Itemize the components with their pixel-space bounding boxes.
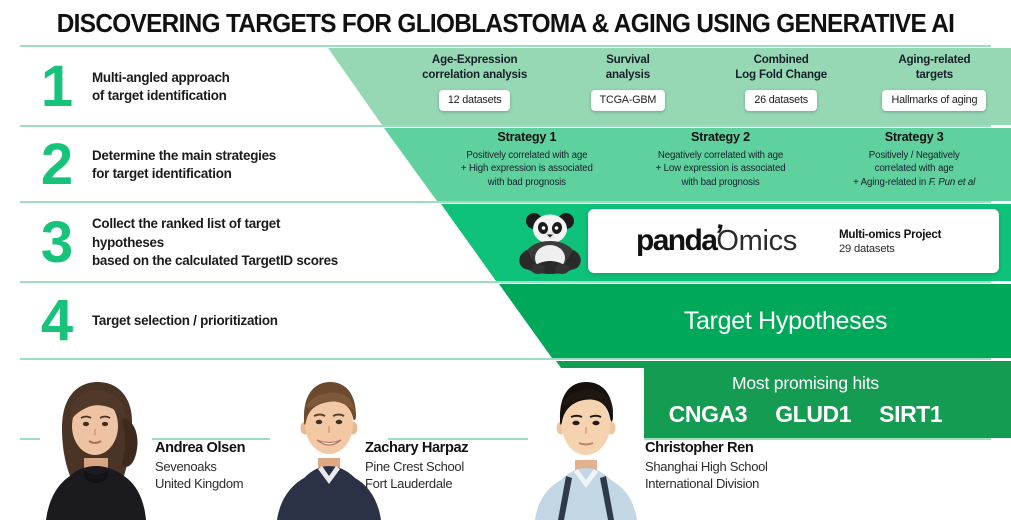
- step-row-1: 1 Multi-angled approach of target identi…: [20, 50, 350, 124]
- header-line: Aging-related: [898, 53, 970, 68]
- strategy-header: Strategy 2: [691, 130, 750, 144]
- pandaomics-row: panda ’ Omics Multi-omics Project 29 dat…: [500, 204, 1011, 281]
- hit-gene: GLUD1: [775, 401, 851, 428]
- header-line: Survival: [606, 53, 650, 68]
- panda-icon: [514, 210, 586, 276]
- hit-gene: CNGA3: [669, 401, 748, 428]
- strategy-body: Positively / Negatively correlated with …: [853, 149, 975, 189]
- strategy-body: Negatively correlated with age + Low exp…: [656, 149, 786, 189]
- step-number: 4: [20, 295, 92, 347]
- step-row-3: 3 Collect the ranked list of target hypo…: [20, 206, 350, 280]
- divider: [20, 358, 991, 360]
- strategy-header: Strategy 3: [885, 130, 944, 144]
- divider: [20, 125, 991, 127]
- strategy-line-text: + Aging-related in: [853, 177, 929, 188]
- strategy-line: correlated with age: [853, 162, 975, 175]
- hits-header: Most promising hits: [732, 373, 879, 394]
- dataset-chip[interactable]: 12 datasets: [439, 90, 511, 111]
- step-description: Collect the ranked list of target hypoth…: [92, 215, 350, 271]
- strategy-line: with bad prognosis: [461, 176, 593, 189]
- person-affiliation-line: International Division: [645, 475, 768, 492]
- strategy-column-2: Strategy 2 Negatively correlated with ag…: [624, 130, 818, 200]
- header-line: Combined: [735, 53, 827, 68]
- people-captions: Andrea Olsen Sevenoaks United Kingdom Za…: [0, 440, 1011, 520]
- person-caption-2: Zachary Harpaz Pine Crest School Fort La…: [365, 440, 468, 492]
- divider: [20, 201, 991, 203]
- analysis-column-header: Age-Expression correlation analysis: [422, 53, 527, 83]
- person-caption-1: Andrea Olsen Sevenoaks United Kingdom: [155, 440, 245, 492]
- step-description: Multi-angled approach of target identifi…: [92, 69, 230, 106]
- step-row-4: 4 Target selection / prioritization: [20, 286, 350, 357]
- hit-gene: SIRT1: [879, 401, 942, 428]
- person-caption-3: Christopher Ren Shanghai High School Int…: [645, 440, 768, 492]
- strategy-line: + Aging-related in F. Pun et al: [853, 176, 975, 189]
- person-affiliation-line: Fort Lauderdale: [365, 475, 468, 492]
- project-name: Multi-omics Project: [839, 228, 989, 241]
- person-affiliation-line: United Kingdom: [155, 475, 245, 492]
- step-description: Determine the main strategies for target…: [92, 147, 276, 184]
- header-line: Age-Expression: [422, 53, 527, 68]
- strategy-columns: Strategy 1 Positively correlated with ag…: [430, 130, 1011, 200]
- person-name: Zachary Harpaz: [365, 440, 468, 456]
- step-text-line: Target selection / prioritization: [92, 312, 278, 331]
- step-text-line: Multi-angled approach: [92, 69, 230, 88]
- strategy-column-3: Strategy 3 Positively / Negatively corre…: [817, 130, 1011, 200]
- step-text-line: of target identification: [92, 87, 230, 106]
- analysis-column-header: Survival analysis: [606, 53, 650, 83]
- page-title: DISCOVERING TARGETS FOR GLIOBLASTOMA & A…: [23, 4, 989, 44]
- person-affiliation-line: Pine Crest School: [365, 458, 468, 475]
- analysis-column-header: Combined Log Fold Change: [735, 53, 827, 83]
- project-datasets: 29 datasets: [839, 243, 989, 255]
- analysis-column-header: Aging-related targets: [898, 53, 970, 83]
- step-number: 3: [20, 217, 92, 269]
- header-line: analysis: [606, 68, 650, 83]
- strategy-line: + Low expression is associated: [656, 162, 786, 175]
- step-description: Target selection / prioritization: [92, 312, 278, 331]
- step-number: 1: [20, 61, 92, 113]
- step-text-line: for target identification: [92, 165, 276, 184]
- step-number: 2: [20, 139, 92, 191]
- pandaomics-card[interactable]: panda ’ Omics Multi-omics Project 29 dat…: [588, 209, 999, 273]
- step-row-2: 2 Determine the main strategies for targ…: [20, 130, 350, 200]
- header-line: targets: [898, 68, 970, 83]
- poster-canvas: DISCOVERING TARGETS FOR GLIOBLASTOMA & A…: [0, 0, 1011, 520]
- strategy-line: Positively / Negatively: [853, 149, 975, 162]
- pandaomics-logo: panda ’ Omics: [588, 226, 839, 256]
- step-text-line: based on the calculated TargetID scores: [92, 252, 350, 271]
- analysis-column-aging-related: Aging-related targets Hallmarks of aging: [858, 52, 1011, 124]
- analysis-column-age-expression: Age-Expression correlation analysis 12 d…: [398, 52, 551, 124]
- person-affiliation-line: Sevenoaks: [155, 458, 245, 475]
- project-info: Multi-omics Project 29 datasets: [839, 228, 999, 255]
- step-text-line: Determine the main strategies: [92, 147, 276, 166]
- analysis-column-survival: Survival analysis TCGA-GBM: [551, 52, 704, 124]
- person-affiliation-line: Shanghai High School: [645, 458, 768, 475]
- most-promising-hits: Most promising hits CNGA3 GLUD1 SIRT1: [600, 364, 1011, 436]
- analysis-column-log-fold-change: Combined Log Fold Change 26 datasets: [705, 52, 858, 124]
- divider: [20, 281, 991, 283]
- header-line: Log Fold Change: [735, 68, 827, 83]
- divider: [20, 45, 991, 47]
- dataset-chip[interactable]: 26 datasets: [745, 90, 817, 111]
- analysis-columns: Age-Expression correlation analysis 12 d…: [398, 52, 1011, 124]
- header-line: correlation analysis: [422, 68, 527, 83]
- strategy-line: with bad prognosis: [656, 176, 786, 189]
- dataset-chip[interactable]: Hallmarks of aging: [882, 90, 986, 111]
- dataset-chip[interactable]: TCGA-GBM: [591, 90, 666, 111]
- step-text-line: Collect the ranked list of target hypoth…: [92, 215, 350, 252]
- strategy-citation: F. Pun et al: [929, 177, 976, 188]
- hits-list: CNGA3 GLUD1 SIRT1: [669, 401, 943, 428]
- strategy-body: Positively correlated with age + High ex…: [461, 149, 593, 189]
- strategy-line: + High expression is associated: [461, 162, 593, 175]
- strategy-header: Strategy 1: [497, 130, 556, 144]
- strategy-column-1: Strategy 1 Positively correlated with ag…: [430, 130, 624, 200]
- logo-panda-text: panda: [636, 226, 716, 256]
- logo-omics-text: Omics: [716, 227, 797, 256]
- strategy-line: Positively correlated with age: [461, 149, 593, 162]
- strategy-line: Negatively correlated with age: [656, 149, 786, 162]
- person-name: Christopher Ren: [645, 440, 768, 456]
- person-name: Andrea Olsen: [155, 440, 245, 456]
- target-hypotheses-label: Target Hypotheses: [560, 284, 1011, 358]
